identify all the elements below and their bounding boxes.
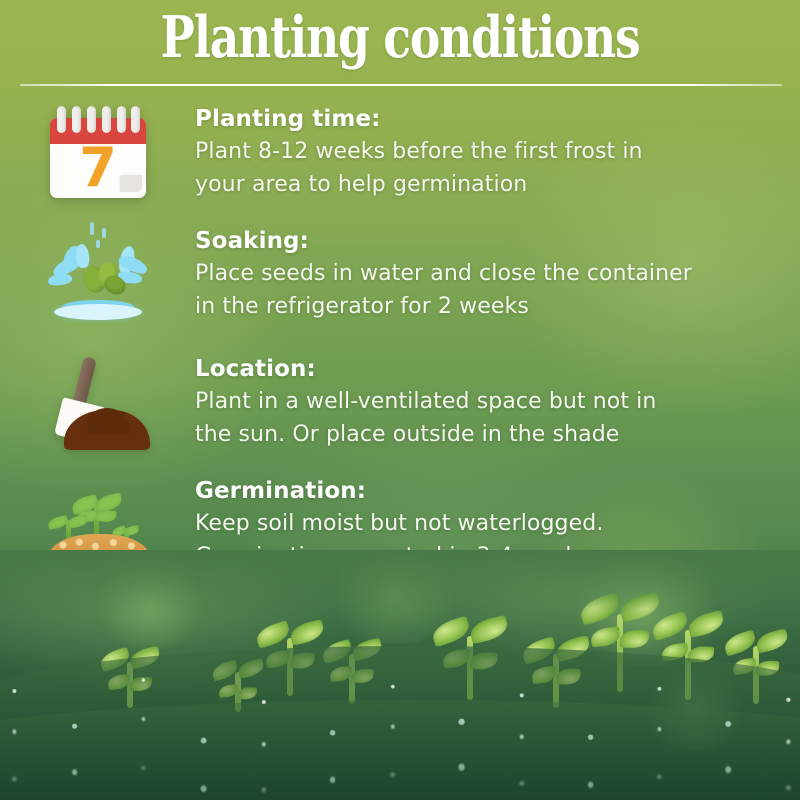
water-droplet (96, 240, 100, 248)
text-cell: Soaking: Place seeds in water and close … (195, 222, 800, 323)
dew-droplets (0, 746, 800, 800)
section-line: the sun. Or place outside in the shade (195, 418, 800, 451)
section-line: Plant in a well-ventilated space but not… (195, 385, 800, 418)
section-heading: Germination: (195, 476, 800, 507)
calendar-ring (87, 106, 96, 133)
seedling-leaf (430, 616, 473, 648)
calendar-ring (57, 106, 66, 133)
calendar-icon: 7 (50, 106, 146, 198)
text-cell: Location: Plant in a well-ventilated spa… (195, 350, 800, 451)
seedling-leaf (620, 629, 649, 648)
sprout-leaf (95, 509, 116, 524)
splash-arm (75, 243, 90, 268)
conditions-list: 7 Planting time: Plant 8-12 weeks before… (0, 100, 800, 592)
calendar-ring (131, 106, 140, 133)
icon-cell (0, 222, 195, 350)
water-droplet (90, 222, 94, 235)
shovel-in-soil-icon (46, 354, 150, 452)
calendar-day-number: 7 (50, 140, 146, 196)
water-droplet (102, 228, 106, 238)
photo-top-fade (0, 550, 800, 620)
list-item: Location: Plant in a well-ventilated spa… (0, 350, 800, 472)
calendar-ring (117, 106, 126, 133)
calendar-ring (102, 106, 111, 133)
calendar-ring (72, 106, 81, 133)
page-title: Planting conditions (80, 2, 720, 74)
title-divider (20, 84, 782, 86)
seedling-leaf (754, 628, 789, 653)
section-line: Plant 8-12 weeks before the first frost … (195, 135, 800, 168)
sprout-leaf (67, 514, 89, 528)
list-item: Soaking: Place seeds in water and close … (0, 222, 800, 350)
water-pool-highlight (54, 304, 142, 320)
icon-cell: 7 (0, 100, 195, 222)
list-item: 7 Planting time: Plant 8-12 weeks before… (0, 100, 800, 222)
text-cell: Planting time: Plant 8-12 weeks before t… (195, 100, 800, 201)
section-line: your area to help germination (195, 168, 800, 201)
section-line: Place seeds in water and close the conta… (195, 257, 800, 290)
section-line: Keep soil moist but not waterlogged. (195, 507, 800, 540)
splash-arm (47, 272, 72, 286)
section-heading: Location: (195, 354, 800, 385)
section-line: in the refrigerator for 2 weeks (195, 290, 800, 323)
icon-cell (0, 350, 195, 472)
sprout-leaf (124, 525, 139, 536)
section-heading: Planting time: (195, 104, 800, 135)
section-heading: Soaking: (195, 226, 800, 257)
planting-conditions-infographic: Planting conditions 7 (0, 0, 800, 800)
water-splash-seeds-icon (46, 224, 150, 328)
seedlings-in-dewy-soil-photo (0, 550, 800, 800)
